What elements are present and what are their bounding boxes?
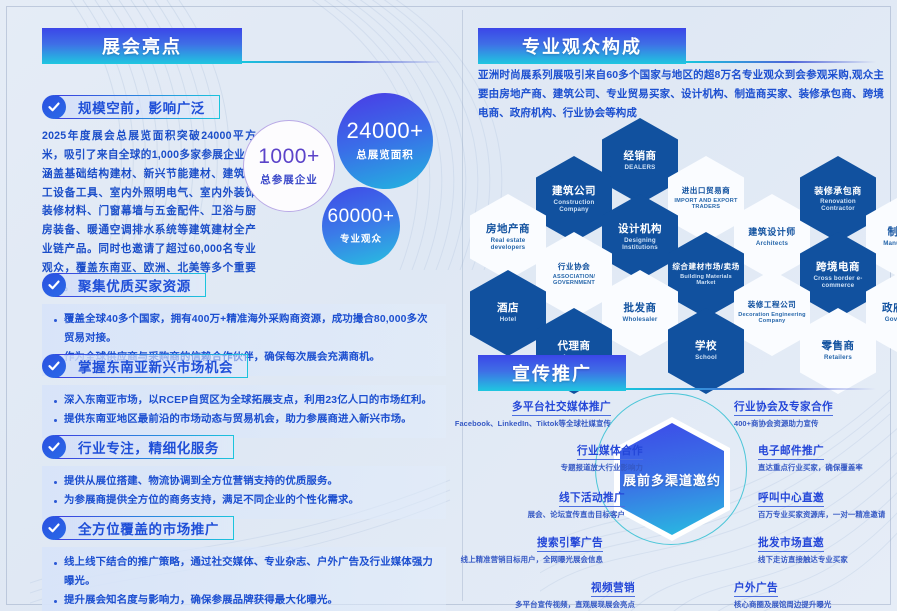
hexagon-cell: 行业协会ASSOCIATION/ GOVERNMENT	[536, 232, 612, 318]
feature-bullets-4: 提供从展位搭建、物流协调到全方位营销支持的优质服务。 为参展商提供全方位的商务支…	[42, 466, 446, 519]
list-item: 深入东南亚市场，以RCEP自贸区为全球拓展支点，利用23亿人口的市场红利。	[52, 392, 436, 411]
promotion-item: 电子邮件推广直达重点行业买家，确保覆盖率	[758, 441, 863, 473]
feature-heading-2: 聚集优质买家资源	[42, 272, 446, 298]
hexagon-label-en: IMPORT AND EXPORT TRADERS	[672, 198, 740, 211]
section-header-audience: 专业观众构成	[478, 28, 686, 64]
promotion-item-title: 行业协会及专家合作	[734, 399, 833, 416]
hexagon-label-en: Wholesaler	[622, 316, 657, 323]
promotion-item-title: 搜索引擎广告	[537, 535, 603, 552]
section-title-promotion: 宣传推广	[512, 360, 592, 386]
feature-heading-3: 掌握东南亚新兴市场机会	[42, 353, 446, 379]
hexagon-label-cn: 综合建材市场/卖场	[672, 263, 739, 272]
feature-title-pill-5: 全方位覆盖的市场推广	[55, 516, 234, 540]
feature-title-3: 掌握东南亚新兴市场机会	[78, 356, 233, 376]
stat-total-area: 24000+ 总展览面积	[337, 93, 433, 189]
hexagon-label-en: Hotel	[500, 316, 516, 323]
stat-value: 1000+	[258, 146, 319, 167]
list-item: 提供从展位搭建、物流协调到全方位营销支持的优质服务。	[52, 473, 436, 492]
stat-label: 总展览面积	[356, 147, 414, 162]
hexagon-label-cn: 装修承包商	[814, 186, 862, 196]
feature-heading-5: 全方位覆盖的市场推广	[42, 515, 446, 541]
hexagon-cell: 房地产商Real estate developers	[470, 194, 546, 280]
feature-title-pill-2: 聚集优质买家资源	[55, 273, 206, 297]
hexagon-cell: 装修承包商Renovation Contractor	[800, 156, 876, 242]
hexagon-label-cn: 进出口贸易商	[682, 187, 731, 196]
feature-block-4: 行业专注，精细化服务 提供从展位搭建、物流协调到全方位营销支持的优质服务。 为参…	[42, 434, 446, 519]
section-header-promotion: 宣传推广	[478, 355, 626, 391]
check-icon	[42, 435, 66, 459]
stat-value: 60000+	[328, 207, 395, 226]
feature-title-4: 行业专注，精细化服务	[78, 437, 219, 457]
promotion-item-title: 批发市场直邀	[758, 535, 824, 552]
hexagon-label-cn: 酒店	[497, 302, 519, 314]
promotion-item: 批发市场直邀线下走访直接触达专业买家	[758, 533, 848, 565]
promotion-item-title: 视频营销	[591, 580, 635, 597]
promotion-item-title: 多平台社交媒体推广	[512, 399, 611, 416]
promotion-item-title: 呼叫中心直邀	[758, 490, 824, 507]
stat-professional-visitors: 60000+ 专业观众	[322, 187, 400, 265]
promotion-item-desc: 百万专业买家资源库，一对一精准邀请	[758, 509, 885, 520]
promotion-item: 呼叫中心直邀百万专业买家资源库，一对一精准邀请	[758, 488, 885, 520]
stat-label: 专业观众	[340, 231, 382, 245]
list-item: 为参展商提供全方位的商务支持，满足不同企业的个性化需求。	[52, 492, 436, 511]
audience-intro-text: 亚洲时尚展系列展吸引来自60多个国家与地区的超8万名专业观众到会参观采购,观众主…	[478, 66, 884, 123]
stat-total-exhibitors: 1000+ 总参展企业	[243, 120, 335, 212]
audience-hexagon-grid: 经销商DEALERS建筑公司Construction Company进出口贸易商…	[470, 118, 897, 323]
hexagon-label-en: Architects	[756, 240, 788, 247]
hexagon-label-en: Cross border e-commerce	[804, 275, 872, 290]
promotion-item-desc: 直达重点行业买家，确保覆盖率	[758, 462, 863, 473]
check-icon	[42, 516, 66, 540]
check-icon	[42, 354, 66, 378]
list-item: 覆盖全球40多个国家，拥有400万+精准海外采购商资源，成功撮合80,000多次…	[52, 311, 436, 349]
promotion-item-desc: 核心商圈及展馆周边提升曝光	[734, 599, 831, 610]
hexagon-label-en: Government	[885, 316, 897, 323]
hexagon-cell: 经销商DEALERS	[602, 118, 678, 204]
promotion-item: 行业媒体合作专题报道放大行业影响力	[561, 441, 643, 473]
promotion-center-hexagon-inner: 展前多渠道邀约	[620, 423, 724, 535]
hexagon-label-cn: 经销商	[624, 150, 657, 162]
hexagon-label-cn: 政府机构	[882, 302, 897, 314]
left-column: 展会亮点 规模空前，影响广泛 2025年度展会总展览面积突破24000平方米，吸…	[0, 0, 462, 611]
hexagon-label-cn: 装修工程公司	[748, 301, 797, 310]
list-item: 提升展会知名度与影响力，确保参展品牌获得最大化曝光。	[52, 592, 436, 611]
hexagon-label-cn: 房地产商	[486, 223, 530, 235]
list-item: 线上线下结合的推广策略，通过社交媒体、专业杂志、户外广告及行业媒体强力曝光。	[52, 554, 436, 592]
feature-block-3: 掌握东南亚新兴市场机会 深入东南亚市场，以RCEP自贸区为全球拓展支点，利用23…	[42, 353, 446, 438]
hexagon-label-en: Real estate developers	[474, 237, 542, 252]
hexagon-label-en: Decoration Engineering Company	[738, 312, 806, 325]
check-icon	[42, 95, 66, 119]
hexagon-label-en: Renovation Contractor	[804, 198, 872, 213]
promotion-item: 视频营销多平台宣传视频，直观展现展会亮点	[515, 578, 635, 610]
promotion-item-desc: 线上精准营销目标用户，全网曝光展会信息	[461, 554, 603, 565]
hexagon-label-cn: 设计机构	[618, 223, 662, 235]
feature-title-pill-3: 掌握东南亚新兴市场机会	[55, 354, 248, 378]
promotion-item-desc: 专题报道放大行业影响力	[561, 462, 643, 473]
promotion-item-desc: 线下走访直接触达专业买家	[758, 554, 848, 565]
hexagon-cell: 建筑公司Construction Company	[536, 156, 612, 242]
feature-title-2: 聚集优质买家资源	[78, 275, 191, 295]
promotion-item-title: 电子邮件推广	[758, 443, 824, 460]
hexagon-label-cn: 行业协会	[558, 263, 590, 272]
hexagon-label-cn: 制造商	[888, 226, 897, 238]
promotion-item-desc: 展会、论坛宣传直击目标客户	[528, 509, 625, 520]
check-icon	[42, 273, 66, 297]
promotion-item: 多平台社交媒体推广Facebook、LinkedIn、Tiktok等全球社媒宣传	[455, 397, 611, 429]
hexagon-cell: 跨境电商Cross border e-commerce	[800, 232, 876, 318]
feature-title-pill-1: 规模空前，影响广泛	[55, 95, 220, 119]
hexagon-label-en: Building Materials Market	[672, 274, 740, 287]
stat-label: 总参展企业	[260, 172, 318, 187]
promotion-item: 搜索引擎广告线上精准营销目标用户，全网曝光展会信息	[461, 533, 603, 565]
hexagon-label-cn: 跨境电商	[816, 261, 860, 273]
promotion-item-desc: 多平台宣传视频，直观展现展会亮点	[515, 599, 635, 610]
infographic-page: 展会亮点 规模空前，影响广泛 2025年度展会总展览面积突破24000平方米，吸…	[0, 0, 897, 611]
hexagon-label-cn: 建筑设计师	[748, 227, 796, 237]
feature-block-5: 全方位覆盖的市场推广 线上线下结合的推广策略，通过社交媒体、专业杂志、户外广告及…	[42, 515, 446, 611]
feature-heading-4: 行业专注，精细化服务	[42, 434, 446, 460]
section-header-highlights: 展会亮点	[42, 28, 242, 64]
hexagon-cell: 进出口贸易商IMPORT AND EXPORT TRADERS	[668, 156, 744, 242]
promotion-item-desc: Facebook、LinkedIn、Tiktok等全球社媒宣传	[455, 418, 611, 429]
promotion-section: 宣传推广 展前多渠道邀约 多平台社交媒体推广Facebook、LinkedIn、…	[462, 345, 897, 611]
hexagon-label-cn: 建筑公司	[552, 185, 596, 197]
hexagon-cell: 设计机构Designing Institutions	[602, 194, 678, 280]
feature-title-pill-4: 行业专注，精细化服务	[55, 435, 234, 459]
feature-title-1: 规模空前，影响广泛	[78, 97, 205, 117]
hexagon-label-en: Manufacturer	[883, 240, 897, 247]
hexagon-cell: 建筑设计师Architects	[734, 194, 810, 280]
section-title-audience: 专业观众构成	[522, 33, 642, 59]
hexagon-label-en: Designing Institutions	[606, 237, 674, 252]
stat-value: 24000+	[346, 120, 423, 142]
promotion-item-desc: 400+商协会资源助力宣传	[734, 418, 833, 429]
feature-bullets-5: 线上线下结合的推广策略，通过社交媒体、专业杂志、户外广告及行业媒体强力曝光。 提…	[42, 547, 446, 611]
hexagon-label-en: DEALERS	[625, 164, 656, 171]
promotion-item-title: 行业媒体合作	[577, 443, 643, 460]
section-title-highlights: 展会亮点	[102, 33, 182, 59]
feature-bullets-3: 深入东南亚市场，以RCEP自贸区为全球拓展支点，利用23亿人口的市场红利。 提供…	[42, 385, 446, 438]
hexagon-cell: 综合建材市场/卖场Building Materials Market	[668, 232, 744, 318]
hexagon-label-cn: 批发商	[624, 302, 657, 314]
promotion-item-title: 户外广告	[734, 580, 778, 597]
promotion-item-title: 线下活动推广	[559, 490, 625, 507]
feature-title-5: 全方位覆盖的市场推广	[78, 518, 219, 538]
promotion-item: 行业协会及专家合作400+商协会资源助力宣传	[734, 397, 833, 429]
hexagon-label-en: Construction Company	[540, 199, 608, 214]
list-item: 提供东南亚地区最前沿的市场动态与贸易机会，助力参展商进入新兴市场。	[52, 411, 436, 430]
promotion-item: 户外广告核心商圈及展馆周边提升曝光	[734, 578, 831, 610]
hexagon-label-en: ASSOCIATION/ GOVERNMENT	[540, 274, 608, 287]
promotion-item: 线下活动推广展会、论坛宣传直击目标客户	[528, 488, 625, 520]
